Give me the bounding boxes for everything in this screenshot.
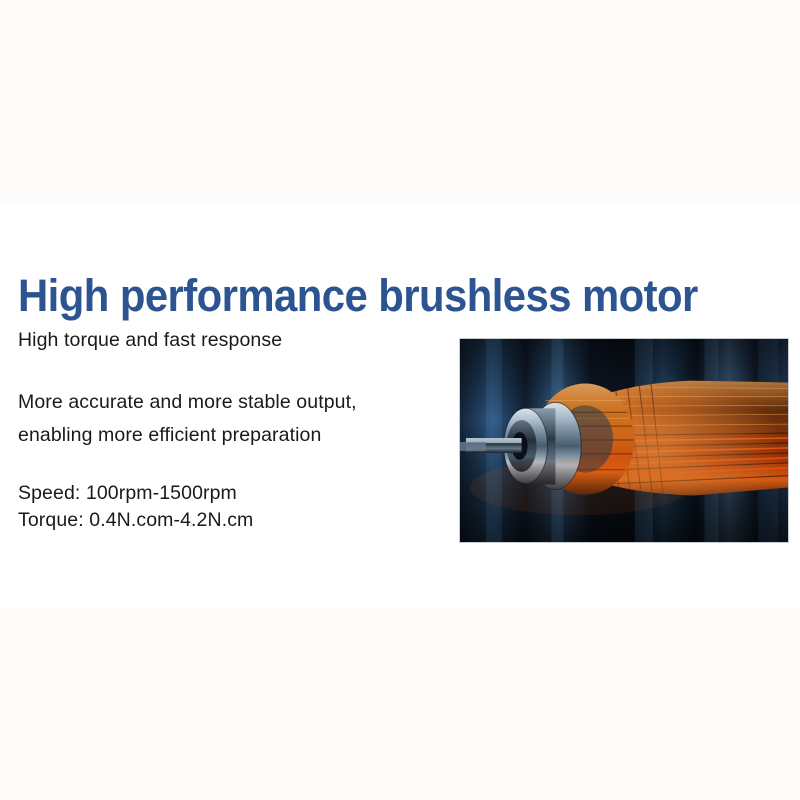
page-title: High performance brushless motor [18, 270, 698, 322]
lead-text: High torque and fast response [18, 324, 448, 357]
motor-rotor-photo [459, 338, 789, 543]
spec-spacer [18, 452, 448, 480]
spec-torque: Torque: 0.4N.com-4.2N.cm [18, 507, 448, 534]
description-line-1: More accurate and more stable output, [18, 386, 448, 419]
spec-speed: Speed: 100rpm-1500rpm [18, 480, 448, 507]
description-line-2: enabling more efficient preparation [18, 419, 448, 452]
bottom-background-band [0, 608, 800, 800]
feature-copy: High torque and fast response More accur… [18, 324, 448, 534]
motor-rotor-illustration [460, 339, 788, 542]
paragraph-spacer [18, 357, 448, 386]
product-feature-page: High performance brushless motor High to… [0, 0, 800, 800]
top-background-band [0, 0, 800, 202]
